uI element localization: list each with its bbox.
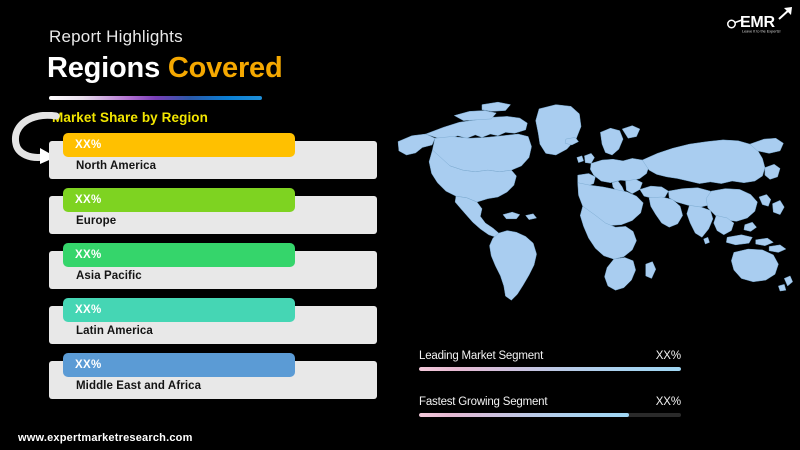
segment-progress-track [419, 413, 681, 417]
region-list: XX% North America XX% Europe XX% Asia Pa… [49, 133, 377, 408]
region-share-value: XX% [75, 304, 101, 316]
segment-block-fastest-growing-segment: Fastest Growing Segment XX% [419, 396, 681, 442]
region-share-value: XX% [75, 249, 101, 261]
region-name-label: Middle East and Africa [76, 380, 201, 392]
section-label: Market Share by Region [52, 110, 208, 125]
segment-value: XX% [656, 350, 681, 362]
region-row-europe[interactable]: XX% Europe [49, 188, 377, 234]
region-row-asia-pacific[interactable]: XX% Asia Pacific [49, 243, 377, 289]
page-title-accent: Covered [168, 52, 283, 84]
region-row-latin-america[interactable]: XX% Latin America [49, 298, 377, 344]
region-share-bar[interactable]: XX% [63, 133, 295, 157]
footer-website-url[interactable]: www.expertmarketresearch.com [18, 432, 193, 444]
segment-block-leading-market-segment: Leading Market Segment XX% [419, 350, 681, 396]
segment-label: Leading Market Segment [419, 350, 543, 362]
world-map-graphic [372, 62, 796, 332]
region-share-bar[interactable]: XX% [63, 243, 295, 267]
region-name-label: Latin America [76, 325, 153, 337]
segment-row: Leading Market Segment XX% [419, 350, 681, 365]
region-name-label: Europe [76, 215, 116, 227]
emr-logo: EMR Leave It to the Experts! [727, 6, 795, 36]
region-share-value: XX% [75, 139, 101, 151]
segment-label: Fastest Growing Segment [419, 396, 547, 408]
slide-root: Report Highlights Regions Covered Market… [0, 0, 800, 450]
segment-stats-list: Leading Market Segment XX% Fastest Growi… [419, 350, 681, 442]
page-title: Regions Covered [47, 52, 283, 85]
segment-value: XX% [656, 396, 681, 408]
region-row-middle-east-and-africa[interactable]: XX% Middle East and Africa [49, 353, 377, 399]
svg-text:EMR: EMR [740, 14, 776, 31]
page-title-primary: Regions [47, 52, 160, 84]
segment-row: Fastest Growing Segment XX% [419, 396, 681, 411]
title-gradient-rule [49, 96, 262, 100]
segment-progress-track [419, 367, 681, 371]
eyebrow-text: Report Highlights [49, 27, 183, 47]
svg-text:Leave It to the Experts!: Leave It to the Experts! [742, 30, 781, 34]
region-share-value: XX% [75, 194, 101, 206]
region-name-label: North America [76, 160, 156, 172]
region-name-label: Asia Pacific [76, 270, 142, 282]
region-share-bar[interactable]: XX% [63, 353, 295, 377]
segment-progress-fill [419, 413, 629, 417]
region-share-value: XX% [75, 359, 101, 371]
segment-progress-fill [419, 367, 681, 371]
region-share-bar[interactable]: XX% [63, 298, 295, 322]
region-share-bar[interactable]: XX% [63, 188, 295, 212]
region-row-north-america[interactable]: XX% North America [49, 133, 377, 179]
